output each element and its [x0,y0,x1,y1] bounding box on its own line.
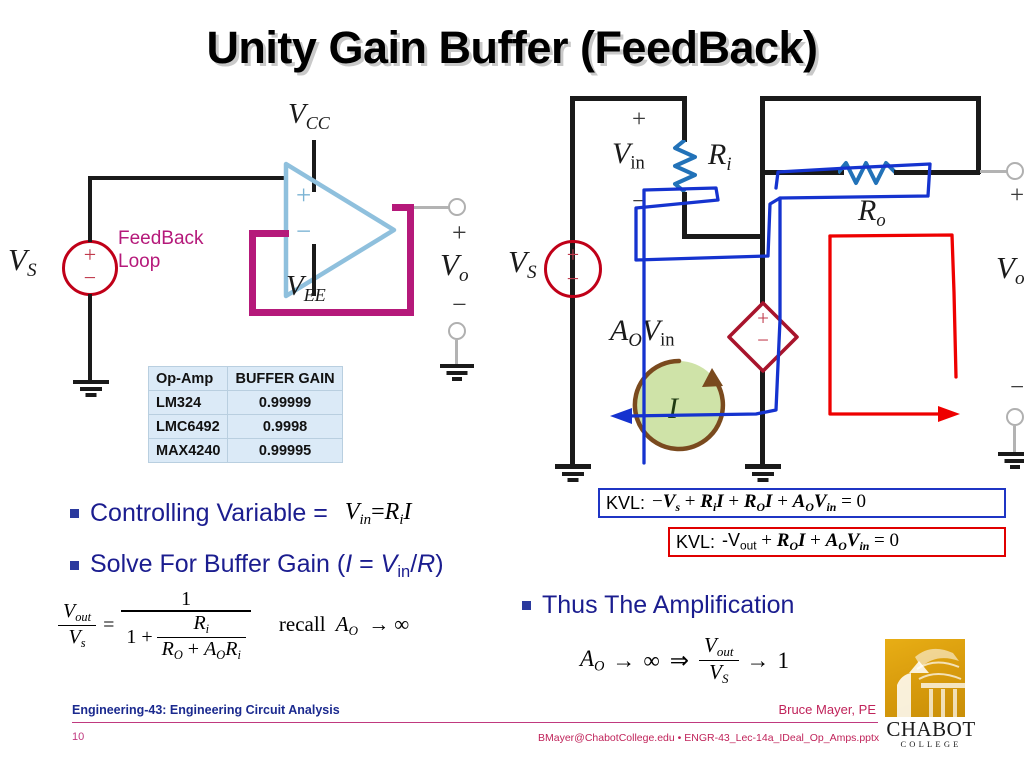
vs-bottom-wire-left [88,294,92,382]
vs-label-left: VS [8,242,37,282]
vin-plus-marker: + [632,106,646,134]
table-cell-part: MAX4240 [149,439,228,463]
table-row: LM324 0.99999 [149,391,343,415]
vs-plus-left: + [62,244,118,266]
noninv-input-wire [88,176,286,180]
ro-left-wire [760,170,844,175]
footer-page-number: 10 [72,731,84,743]
vin-minus-marker: − [632,188,646,216]
ro-resistor-zigzag [838,160,898,186]
table-row: MAX4240 0.99995 [149,439,343,463]
ri-top-wire [682,96,687,142]
bullet-square-icon [70,561,79,570]
output-terminal-minus-left [448,322,466,340]
footer-course: Engineering-43: Engineering Circuit Anal… [72,703,340,717]
rhs-numerator: 1 [176,588,196,610]
vo-plus-left: + [452,218,467,248]
feedback-wire-to-inverting [249,230,289,237]
output-terminal-plus-right [1006,162,1024,180]
arrow-1: → [612,648,635,674]
feedback-loop-label: FeedBackLoop [118,227,204,273]
limit-one: 1 [778,648,790,674]
vo-minus-right: − [1010,374,1024,402]
bullet-solve-buffer-gain: Solve For Buffer Gain (I = Vin/R) [70,550,444,582]
logo-sub-text: COLLEGE [879,739,983,749]
table-header-gain: BUFFER GAIN [228,367,342,391]
current-loop-indicator [624,350,734,460]
controlling-variable-equation: Vin=RiI [345,499,412,529]
kvl-equation-1: −Vs + RiI + ROI + AOVin = 0 [652,491,866,515]
ri-resistor-zigzag [672,140,698,194]
table-cell-gain: 0.99995 [228,439,342,463]
buffer-gain-derivation-formula: Vout Vs = 1 1 + Ri RO + AORi recall AO →… [58,588,409,663]
inner-fraction: Ri RO + AORi [157,612,246,663]
slide-root: Unity Gain Buffer (FeedBack) VCC VS + − … [0,0,1024,768]
feedback-wire-right [407,204,414,316]
gain-ratio-lhs: Vout Vs [58,600,96,651]
vs-label-right: VS [508,244,537,284]
ri-label: Ri [708,138,732,176]
gain-ratio-rhs: 1 1 + Ri RO + AORi [121,588,251,663]
vs-minus-left: − [62,267,118,289]
output-ground-stem-left [455,340,458,364]
bullet-text-solve-gain: Solve For Buffer Gain (I = Vin/R) [90,550,444,582]
ground-symbol-right-output [1014,452,1016,470]
output-terminal-plus-left [448,198,466,216]
bullet-controlling-variable: Controlling Variable = Vin=RiI [70,499,411,529]
ro-right-wire [894,170,980,175]
dep-source-top-wire [760,170,765,310]
table-cell-gain: 0.99999 [228,391,342,415]
bullet-thus-amplification: Thus The Amplification [522,591,794,620]
vs-minus-right: − [544,268,602,290]
dependent-source-label: AOVin [610,314,675,352]
ground-symbol-left-output [456,364,458,382]
vin-label: Vin [612,137,645,175]
vout-vs-ratio: Vout VS [699,634,738,687]
output-ground-stem-right [1013,426,1016,452]
vs-plus-right: + [544,244,602,266]
infinity-1: ∞ [643,648,659,674]
logo-building-icon [885,639,965,717]
dep-source-plus: + [726,308,800,329]
chabot-college-logo: CHABOT COLLEGE [879,639,983,755]
ro-label: Ro [858,194,886,232]
table-header-row: Op-Amp BUFFER GAIN [149,367,343,391]
vo-label-left: Vo [440,247,469,287]
ri-bottom-wire [682,192,687,238]
feedback-wire-bottom [249,309,414,316]
right-circuit-diagram: + Vin − Ri Ro VS + − + − [548,92,1024,492]
table-cell-gain: 0.9998 [228,415,342,439]
arrow-2: → [747,648,770,674]
feedback-wire-left [249,230,256,316]
kvl-label-2: KVL: [676,532,715,553]
bullet-square-icon [70,509,79,518]
ground-symbol-right-center [762,464,764,482]
kvl-equation-box-1: KVL: −Vs + RiI + ROI + AOVin = 0 [598,488,1006,518]
footer-credits: BMayer@ChabotCollege.edu • ENGR-43_Lec-1… [538,732,879,744]
table-cell-part: LM324 [149,391,228,415]
opamp-minus-input: − [296,216,311,247]
kvl-equation-box-2: KVL: -Vout + ROI + AOVin = 0 [668,527,1006,557]
current-label: I [668,392,678,426]
buffer-gain-table: Op-Amp BUFFER GAIN LM324 0.99999 LMC6492… [148,366,343,463]
footer-author: Bruce Mayer, PE [778,702,876,717]
output-terminal-minus-right [1006,408,1024,426]
opamp-plus-input: + [296,180,311,211]
dep-source-bottom-wire [760,360,765,464]
logo-building-mark [885,639,965,717]
kvl-label-1: KVL: [606,493,645,514]
right-rail-down-wire [976,96,981,174]
bullet-text-controlling-variable: Controlling Variable = [90,499,328,528]
vee-label: VEE [286,270,326,306]
vo-label-right: Vo [996,250,1024,290]
vcc-label: VCC [288,98,330,134]
ground-symbol-left-source [90,380,92,398]
ao-term: AO [580,646,604,676]
amplification-limit-formula: AO → ∞ ⇒ Vout VS → 1 [580,634,789,687]
ground-symbol-right-source [572,464,574,482]
top-rail-wire-right [570,96,686,101]
top-rail-wire-right-2 [760,96,980,101]
dep-source-minus: − [726,330,800,351]
output-wire-right [980,170,1008,173]
rhs-denominator: 1 + Ri RO + AORi [121,612,251,663]
equals-sign: = [103,614,114,637]
recall-note: recall AO →∞ [279,612,409,639]
bullet-square-icon [522,601,531,610]
table-row: LMC6492 0.9998 [149,415,343,439]
vs-top-wire-left [88,176,92,242]
footer-divider [72,722,878,723]
output-wire-to-terminal [414,206,450,209]
ri-branch-bottom-rail [682,234,764,239]
bullet-text-thus-amplification: Thus The Amplification [542,591,794,620]
implies-sign: ⇒ [670,648,689,674]
table-cell-part: LMC6492 [149,415,228,439]
page-title: Unity Gain Buffer (FeedBack) [0,22,1024,74]
vo-plus-right: + [1010,182,1024,210]
table-header-opamp: Op-Amp [149,367,228,391]
left-circuit-diagram: VCC VS + − + − VEE [0,92,500,392]
vo-minus-left: − [452,290,467,320]
kvl-equation-2: -Vout + ROI + AOVin = 0 [722,530,899,554]
